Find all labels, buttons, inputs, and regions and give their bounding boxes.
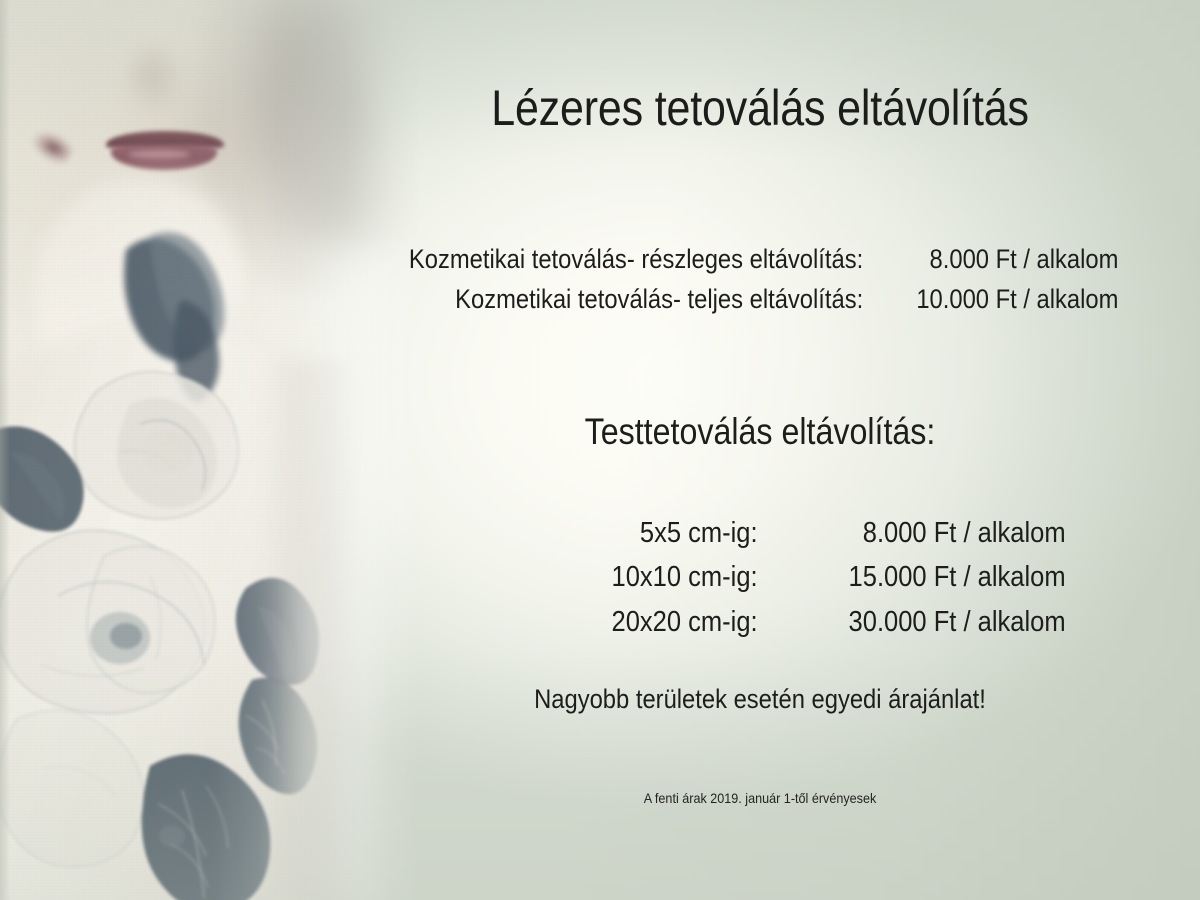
price-value: 10.000 Ft / alkalom bbox=[863, 280, 1118, 320]
price-label: 10x10 cm-ig: bbox=[520, 555, 758, 599]
price-value: 15.000 Ft / alkalom bbox=[758, 555, 1066, 599]
page-title: Lézeres tetoválás eltávolítás bbox=[433, 82, 1087, 135]
price-row: 20x20 cm-ig: 30.000 Ft / alkalom bbox=[520, 600, 1066, 644]
custom-quote-note: Nagyobb területek esetén egyedi árajánla… bbox=[426, 684, 1095, 715]
price-row: 5x5 cm-ig: 8.000 Ft / alkalom bbox=[520, 511, 1066, 555]
section-title-body-tattoo: Testtetoválás eltávolítás: bbox=[429, 411, 1090, 453]
price-list-slide: Lézeres tetoválás eltávolítás Kozmetikai… bbox=[0, 0, 1200, 900]
price-value: 30.000 Ft / alkalom bbox=[758, 600, 1066, 644]
price-row: Kozmetikai tetoválás- teljes eltávolítás… bbox=[300, 280, 1118, 320]
price-label: Kozmetikai tetoválás- teljes eltávolítás… bbox=[300, 280, 863, 320]
slide-content: Lézeres tetoválás eltávolítás Kozmetikai… bbox=[0, 0, 1200, 900]
price-row: 10x10 cm-ig: 15.000 Ft / alkalom bbox=[520, 555, 1066, 599]
price-label: 20x20 cm-ig: bbox=[520, 600, 758, 644]
price-label: 5x5 cm-ig: bbox=[520, 511, 758, 555]
price-value: 8.000 Ft / alkalom bbox=[863, 240, 1118, 280]
price-value: 8.000 Ft / alkalom bbox=[758, 511, 1066, 555]
body-tattoo-price-list: 5x5 cm-ig: 8.000 Ft / alkalom 10x10 cm-i… bbox=[520, 511, 1080, 644]
cosmetic-price-list: Kozmetikai tetoválás- részleges eltávolí… bbox=[300, 240, 1120, 320]
price-row: Kozmetikai tetoválás- részleges eltávolí… bbox=[300, 240, 1118, 280]
validity-footnote: A fenti árak 2019. január 1-től érvényes… bbox=[418, 790, 1102, 806]
price-label: Kozmetikai tetoválás- részleges eltávolí… bbox=[300, 240, 863, 280]
